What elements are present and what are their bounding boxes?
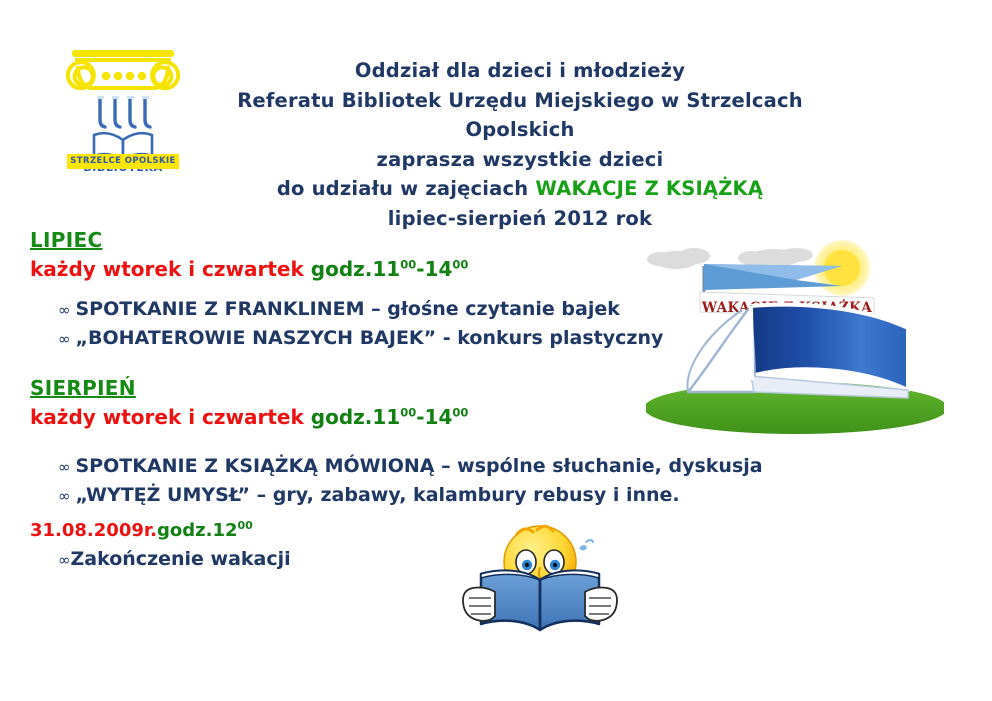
header-line-4-prefix: do udziału w zajęciach xyxy=(277,177,536,200)
schedule-time-lipiec-sup1: 00 xyxy=(400,257,416,271)
infinity-bullet-icon: ∞ xyxy=(58,458,76,476)
list-item-label: SPOTKANIE Z KSIĄŻKĄ MÓWIONĄ – wspólne sł… xyxy=(76,455,763,477)
header-event-title: WAKACJE Z KSIĄŻKĄ xyxy=(535,177,763,200)
schedule-time-sierpien-start: godz.11 xyxy=(311,405,400,429)
gloved-hand xyxy=(463,588,495,621)
logo-town-banner: STRZELCE OPOLSKIE xyxy=(67,154,179,169)
closing-block: 31.08.2009r.godz.1200 ∞Zakończenie wakac… xyxy=(30,520,291,570)
list-item: ∞„WYTĘŻ UMYSŁ” – gry, zabawy, kalambury … xyxy=(30,484,860,513)
closing-datetime: 31.08.2009r.godz.1200 xyxy=(30,520,291,548)
schedule-time-lipiec-end: -14 xyxy=(416,257,452,281)
infinity-bullet-icon: ∞ xyxy=(58,551,71,569)
schedule-days-sierpien: każdy wtorek i czwartek xyxy=(30,405,311,429)
smiley-reading-book-illustration xyxy=(455,518,625,636)
poster-canvas: BIBLIOTEKA STRZELCE OPOLSKIE Oddział dla… xyxy=(0,0,992,701)
gloved-hand xyxy=(585,588,617,621)
schedule-time-lipiec-start: godz.11 xyxy=(311,257,400,281)
list-item-label: Zakończenie wakacji xyxy=(71,548,291,570)
closing-time-sup: 00 xyxy=(238,519,253,532)
list-item: ∞SPOTKANIE Z KSIĄŻKĄ MÓWIONĄ – wspólne s… xyxy=(30,455,860,484)
poster-header: Oddział dla dzieci i młodzieży Referatu … xyxy=(180,56,860,233)
header-line-2: Referatu Bibliotek Urzędu Miejskiego w S… xyxy=(180,86,860,145)
infinity-bullet-icon: ∞ xyxy=(58,330,76,348)
schedule-time-sierpien-end: -14 xyxy=(416,405,452,429)
book-tent-illustration: WAKACJE Z KSIĄŻKĄ xyxy=(646,240,944,434)
schedule-time-sierpien-sup1: 00 xyxy=(400,405,416,419)
schedule-time-lipiec: godz.1100-1400 xyxy=(311,257,469,281)
closing-time: godz.1200 xyxy=(157,520,253,541)
list-item: ∞Zakończenie wakacji xyxy=(30,548,291,570)
list-item-label: SPOTKANIE Z FRANKLINEM – głośne czytanie… xyxy=(76,298,620,320)
biblioteka-logo: BIBLIOTEKA STRZELCE OPOLSKIE xyxy=(64,44,182,176)
schedule-time-sierpien: godz.1100-1400 xyxy=(311,405,469,429)
schedule-days-lipiec: każdy wtorek i czwartek xyxy=(30,257,311,281)
list-item-label: „WYTĘŻ UMYSŁ” – gry, zabawy, kalambury r… xyxy=(76,484,680,506)
logo-town-text: STRZELCE OPOLSKIE xyxy=(67,154,179,169)
month-label-sierpien: SIERPIEŃ xyxy=(30,376,136,400)
infinity-bullet-icon: ∞ xyxy=(58,487,76,505)
header-line-4: do udziału w zajęciach WAKACJE Z KSIĄŻKĄ xyxy=(180,174,860,204)
closing-time-label: godz.12 xyxy=(157,520,238,541)
closing-date: 31.08.2009r. xyxy=(30,520,157,541)
month-label-lipiec: LIPIEC xyxy=(30,228,102,252)
schedule-time-sierpien-sup2: 00 xyxy=(452,405,468,419)
schedule-time-lipiec-sup2: 00 xyxy=(452,257,468,271)
list-item-label: „BOHATEROWIE NASZYCH BAJEK” - konkurs pl… xyxy=(76,327,664,349)
infinity-bullet-icon: ∞ xyxy=(58,301,76,319)
header-line-1: Oddział dla dzieci i młodzieży xyxy=(180,56,860,86)
header-line-3: zaprasza wszystkie dzieci xyxy=(180,145,860,175)
